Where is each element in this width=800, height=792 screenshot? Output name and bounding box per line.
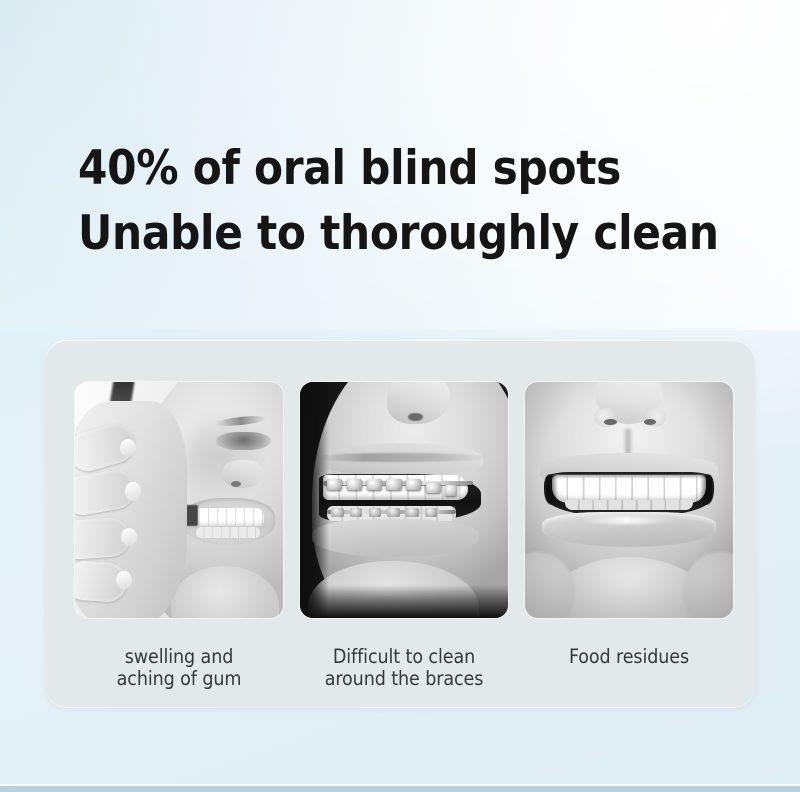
woman-holding-cheek-gum-pain-photo	[75, 382, 283, 618]
list-item-label: Food residues	[525, 646, 733, 668]
list-item[interactable]: Food residues	[525, 382, 733, 690]
list-item[interactable]: Difficult to clean around the braces	[300, 382, 508, 690]
problem-panel: swelling and aching of gum	[45, 340, 755, 708]
page-title: 40% of oral blind spots Unable to thorou…	[78, 136, 798, 266]
list-item[interactable]: swelling and aching of gum	[75, 382, 283, 690]
headline-line-1: 40% of oral blind spots	[78, 136, 798, 201]
headline-line-2: Unable to thoroughly clean	[78, 201, 798, 266]
mouth-with-metal-braces-photo	[300, 382, 508, 618]
list-item-label: Difficult to clean around the braces	[300, 646, 508, 690]
bottom-strip	[0, 786, 800, 792]
list-item-label: swelling and aching of gum	[75, 646, 283, 690]
wide-smile-teeth-photo	[525, 382, 733, 618]
card-list: swelling and aching of gum	[75, 382, 733, 690]
